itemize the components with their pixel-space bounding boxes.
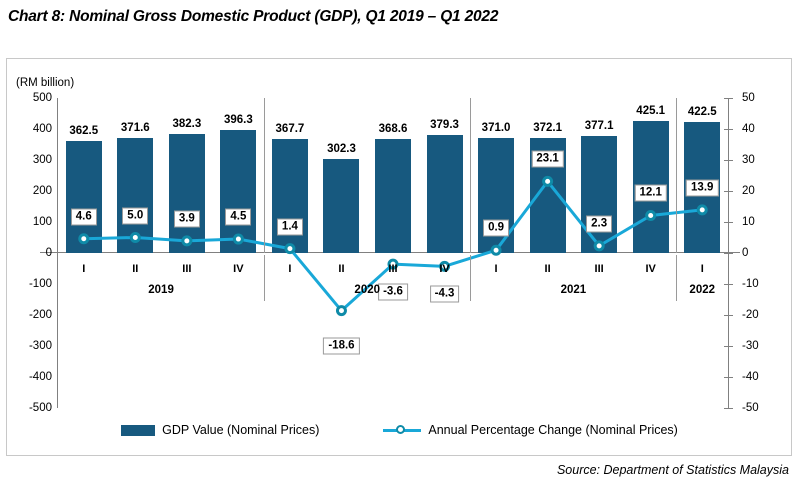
right-tick-mark [724,160,733,161]
percentage-value-label: 4.5 [225,209,251,226]
y-axis-unit-label: (RM billion) [16,77,74,89]
bar-value-label: 362.5 [69,125,98,137]
left-axis-line [57,98,58,408]
year-label: 2021 [561,284,587,296]
right-tick-mark [724,98,733,99]
percentage-value-label: 5.0 [122,207,148,224]
quarter-label: I [82,263,85,275]
quarter-label: II [545,263,551,275]
left-tick-label: -200 [12,315,52,327]
left-tick-label: -100 [12,284,52,296]
left-tick-label: 0 [12,253,52,265]
year-separator-lower [676,255,677,301]
left-tick-label: 500 [12,98,52,110]
bar [66,141,102,253]
right-tick-mark [724,346,733,347]
chart-frame [6,58,792,456]
right-tick-label: -30 [742,346,786,358]
bar-value-label: 371.6 [121,122,150,134]
bar-value-label: 382.3 [172,118,201,130]
left-tick-label: -400 [12,377,52,389]
bar-value-label: 396.3 [224,114,253,126]
right-tick-label: 50 [742,98,786,110]
year-label: 2020 [354,284,380,296]
chart-legend: GDP Value (Nominal Prices) Annual Percen… [0,423,799,437]
legend-label-annual-pct-change: Annual Percentage Change (Nominal Prices… [428,423,677,437]
percentage-value-label: 0.9 [483,220,509,237]
bar-value-label: 371.0 [482,122,511,134]
year-label: 2022 [689,284,715,296]
right-tick-label: 40 [742,129,786,141]
quarter-label: III [595,263,604,275]
bar-value-label: 422.5 [688,106,717,118]
quarter-label: II [338,263,344,275]
quarter-label: I [288,263,291,275]
right-tick-label: 30 [742,160,786,172]
right-tick-label: -40 [742,377,786,389]
left-tick-label: 100 [12,222,52,234]
bar [375,139,411,253]
right-tick-mark [724,315,733,316]
year-separator-upper [264,98,265,253]
quarter-label: I [701,263,704,275]
right-tick-label: 10 [742,222,786,234]
chart-title: Chart 8: Nominal Gross Domestic Product … [8,8,498,26]
bar-value-label: 368.6 [379,123,408,135]
right-tick-mark [724,253,733,254]
year-separator-lower [264,255,265,301]
line-swatch-icon [383,424,421,436]
percentage-value-label: 12.1 [634,185,666,202]
percentage-value-label: 2.3 [586,215,612,232]
right-tick-mark [724,377,733,378]
bar [272,139,308,253]
bar-value-label: 425.1 [636,105,665,117]
quarter-label: II [132,263,138,275]
right-tick-mark [724,191,733,192]
right-tick-label: -20 [742,315,786,327]
quarter-label: IV [439,263,449,275]
bar-value-label: 372.1 [533,122,562,134]
percentage-value-label: 23.1 [531,151,563,168]
source-note: Source: Department of Statistics Malaysi… [557,463,789,477]
legend-item-annual-pct-change: Annual Percentage Change (Nominal Prices… [383,423,677,437]
left-tick-label: 400 [12,129,52,141]
percentage-value-label: 13.9 [686,179,718,196]
percentage-value-label: -18.6 [323,337,359,354]
right-tick-label: -10 [742,284,786,296]
right-tick-mark [724,222,733,223]
legend-item-gdp-value: GDP Value (Nominal Prices) [121,423,319,437]
left-tick-label: -500 [12,408,52,420]
bar-value-label: 379.3 [430,119,459,131]
quarter-label: III [388,263,397,275]
bar [117,138,153,253]
right-tick-label: 0 [742,253,786,265]
percentage-value-label: 3.9 [174,210,200,227]
percentage-value-label: 4.6 [71,208,97,225]
bar-value-label: 367.7 [276,123,305,135]
year-label: 2019 [148,284,174,296]
year-separator-upper [470,98,471,253]
right-tick-label: -50 [742,408,786,420]
percentage-value-label: -3.6 [378,284,408,301]
year-separator-upper [676,98,677,253]
bar [427,135,463,253]
left-tick-label: 200 [12,191,52,203]
quarter-label: IV [233,263,243,275]
right-tick-mark [724,129,733,130]
percentage-value-label: -4.3 [430,286,460,303]
bar [323,159,359,253]
left-tick-label: -300 [12,346,52,358]
quarter-label: I [495,263,498,275]
bar-value-label: 377.1 [585,120,614,132]
bar-value-label: 302.3 [327,143,356,155]
year-separator-lower [470,255,471,301]
quarter-label: IV [645,263,655,275]
right-tick-mark [724,284,733,285]
bar [169,134,205,253]
left-tick-label: 300 [12,160,52,172]
right-tick-label: 20 [742,191,786,203]
quarter-label: III [182,263,191,275]
right-tick-mark [724,408,733,409]
bar-swatch-icon [121,425,155,436]
legend-label-gdp-value: GDP Value (Nominal Prices) [162,423,319,437]
bar [581,136,617,253]
percentage-value-label: 1.4 [277,218,303,235]
bar [220,130,256,253]
